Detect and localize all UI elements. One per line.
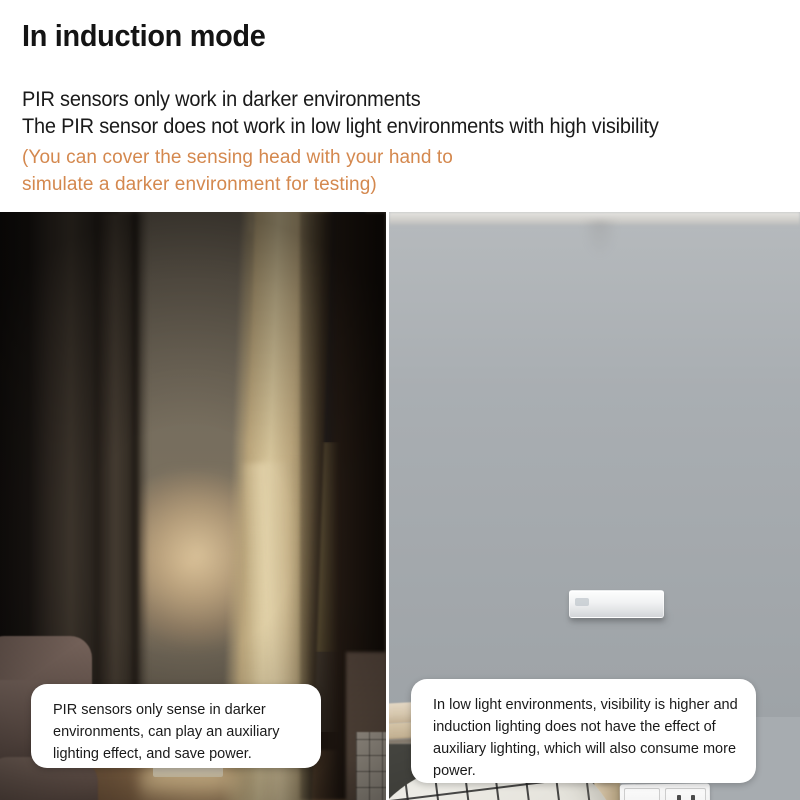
- photo-divider: [386, 212, 389, 800]
- header-text-block: In induction mode PIR sensors only work …: [0, 0, 800, 212]
- wall-switch: [624, 788, 660, 800]
- subtitle-group: PIR sensors only work in darker environm…: [22, 86, 792, 140]
- grid-fabric-edge: [356, 732, 386, 800]
- subtitle-line-1: PIR sensors only work in darker environm…: [22, 86, 754, 113]
- wall-socket: [665, 788, 706, 800]
- socket-pin-icon: [677, 795, 681, 800]
- wall-shadow-smudge: [577, 220, 623, 320]
- note-line-1: (You can cover the sensing head with you…: [22, 144, 792, 171]
- subtitle-line-2: The PIR sensor does not work in low ligh…: [22, 113, 754, 140]
- socket-pin-icon: [691, 795, 695, 800]
- led-downward-spill: [140, 775, 240, 800]
- wall-corner: [132, 212, 148, 737]
- caption-dark-room: PIR sensors only sense in darker environ…: [31, 684, 321, 768]
- caption-bright-room: In low light environments, visibility is…: [411, 679, 756, 783]
- note-line-2: simulate a darker environment for testin…: [22, 171, 792, 198]
- page-title: In induction mode: [22, 18, 266, 54]
- pir-sensor-head-icon: [575, 598, 589, 606]
- product-info-page: In induction mode PIR sensors only work …: [0, 0, 800, 800]
- note-group: (You can cover the sensing head with you…: [22, 144, 792, 198]
